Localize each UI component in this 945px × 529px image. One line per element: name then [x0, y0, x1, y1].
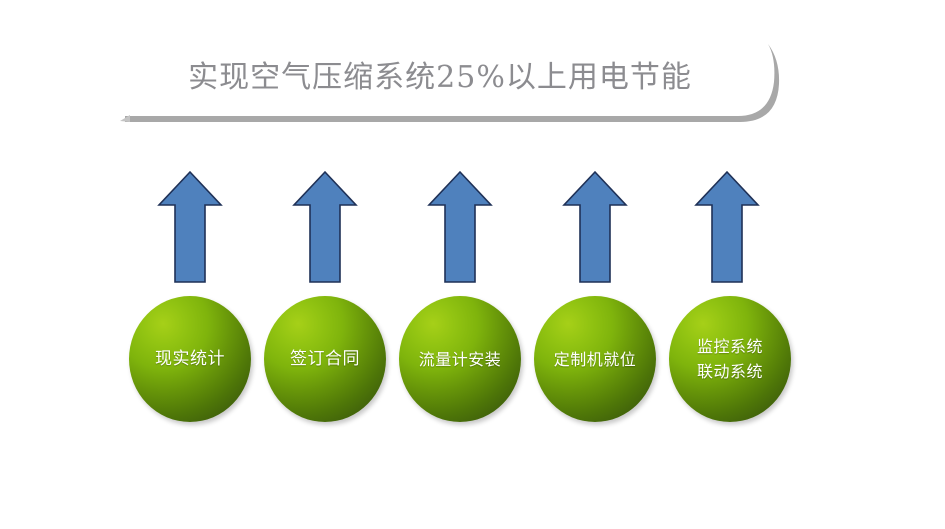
process-node-1[interactable]: 现实统计: [129, 296, 251, 422]
process-node-5[interactable]: 监控系统 联动系统: [669, 296, 791, 422]
arrow-up-icon: [429, 172, 491, 282]
process-node-label: 定制机就位: [554, 348, 637, 371]
process-node-label: 监控系统 联动系统: [697, 334, 763, 384]
arrow-up-icon: [294, 172, 356, 282]
slide-canvas: 实现空气压缩系统25%以上用电节能: [0, 0, 945, 529]
process-node-4[interactable]: 定制机就位: [534, 296, 656, 422]
arrow-up-icon: [696, 172, 758, 282]
arrow-row: [0, 168, 945, 288]
process-node-label: 签订合同: [290, 348, 360, 371]
process-node-row: 现实统计 签订合同 流量计安装 定制机就位 监控系统 联动系统: [0, 296, 945, 424]
arrow-1: [155, 168, 225, 286]
arrow-up-icon: [159, 172, 221, 282]
arrow-3: [425, 168, 495, 286]
arrow-5: [692, 168, 762, 286]
arrow-4: [560, 168, 630, 286]
process-node-label: 现实统计: [155, 348, 225, 371]
arrow-2: [290, 168, 360, 286]
process-node-3[interactable]: 流量计安装: [399, 296, 521, 422]
arrow-up-icon: [564, 172, 626, 282]
title-frame-left-taper: [120, 115, 130, 122]
process-node-label: 流量计安装: [419, 348, 502, 371]
title-banner: 实现空气压缩系统25%以上用电节能: [120, 42, 780, 122]
process-node-2[interactable]: 签订合同: [264, 296, 386, 422]
page-title: 实现空气压缩系统25%以上用电节能: [120, 42, 760, 114]
